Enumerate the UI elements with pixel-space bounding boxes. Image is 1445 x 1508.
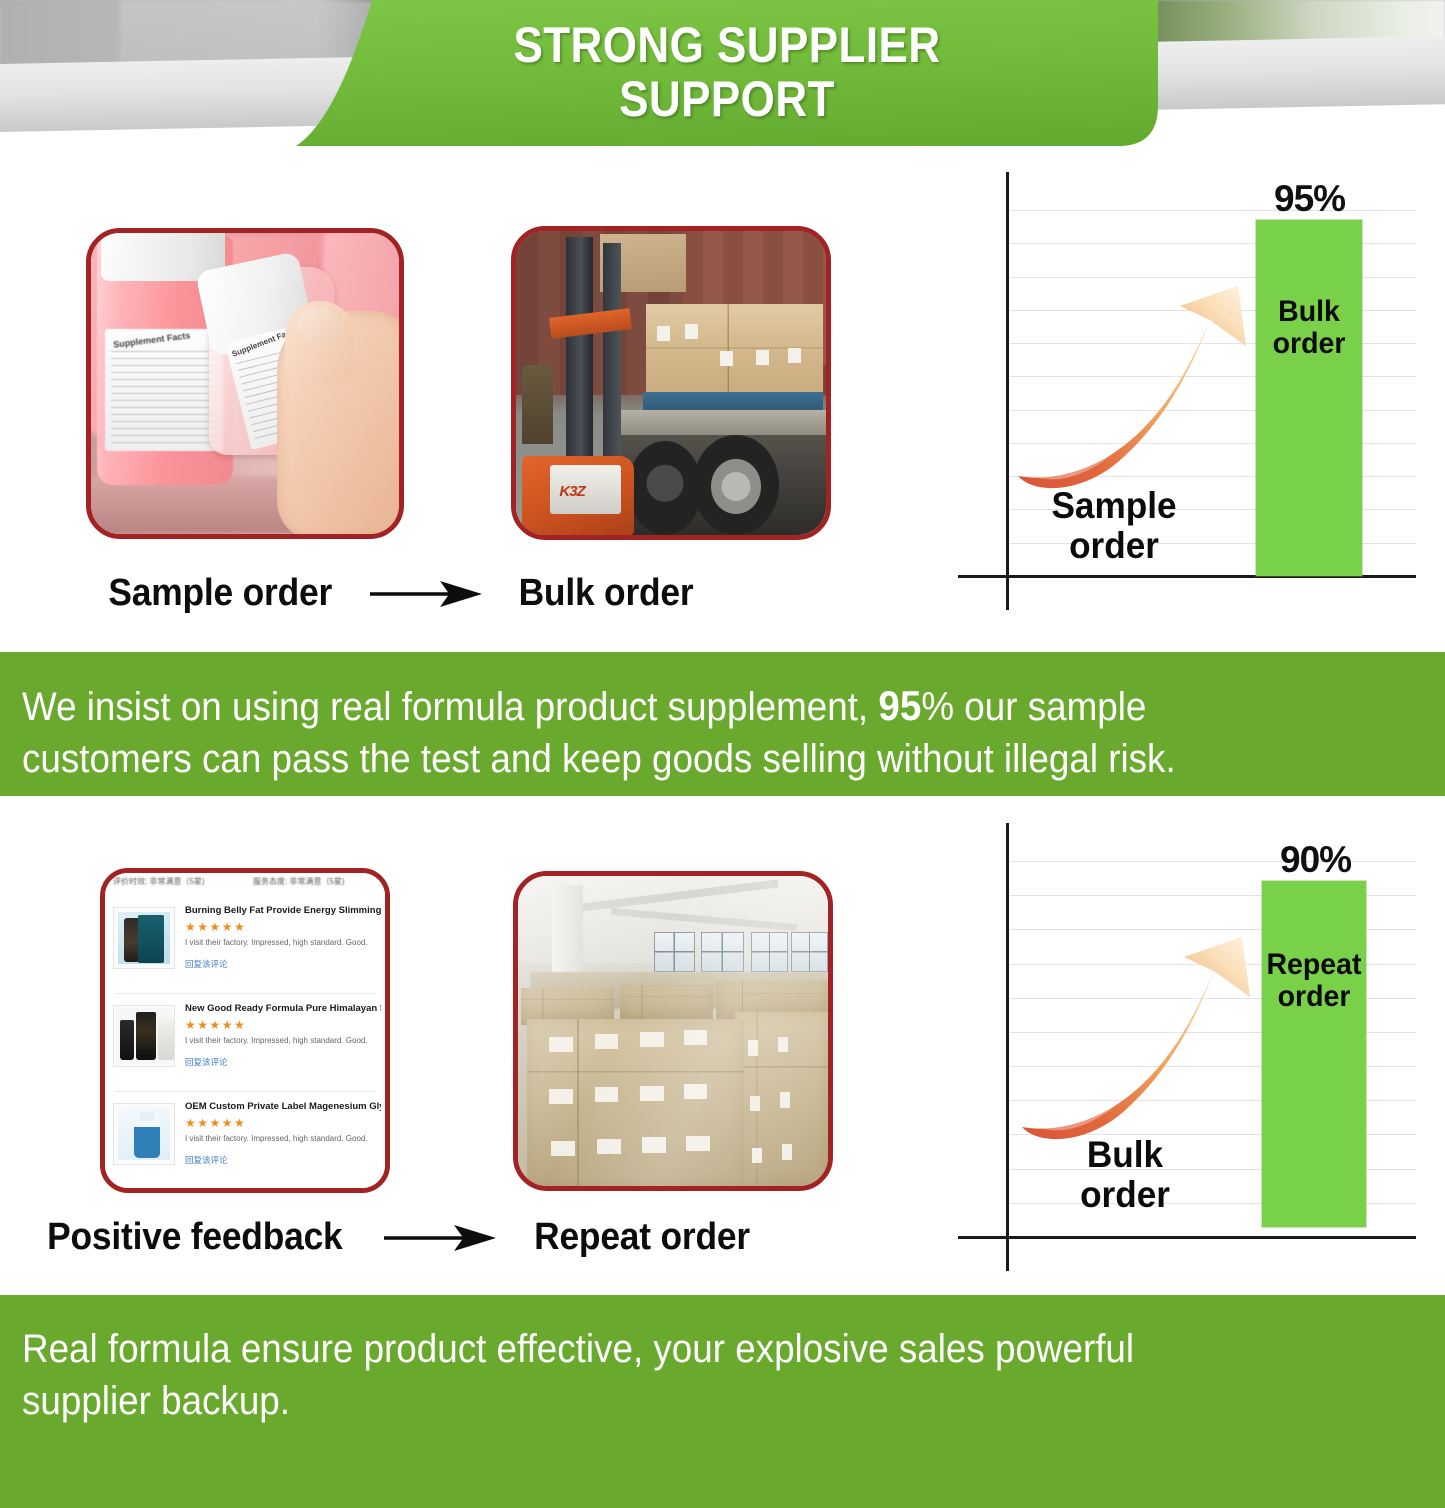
growth-arrow-icon <box>1014 280 1294 502</box>
statement-text-before: We insist on using real formula product … <box>22 685 878 729</box>
review-title[interactable]: Burning Belly Fat Provide Energy Slimmin… <box>185 905 381 916</box>
bottles-photo-art: Supplement Facts Supplement Facts <box>91 233 399 534</box>
forklift-mast-secondary <box>603 243 622 480</box>
magnesium-bottle-thumbnail <box>118 1108 170 1160</box>
chart-value-label: 90% <box>1280 839 1351 881</box>
feedback-panel-header: 评价时效: 非常满意（5星) 服务态度: 非常满意（5星) <box>105 873 385 893</box>
review-comment: I visit their factory. Impressed, high s… <box>185 1134 383 1143</box>
feedback-header-right: 服务态度: 非常满意（5星) <box>253 876 345 887</box>
statement-text: Real formula ensure product effective, y… <box>22 1323 1307 1427</box>
photo-bulk-order-forklift: K3Z <box>511 226 831 540</box>
review-title[interactable]: New Good Ready Formula Pure Himalayan Sh… <box>185 1003 381 1014</box>
caption-sample-order: Sample order <box>108 572 332 615</box>
header-banner: STRONG SUPPLIER SUPPORT <box>296 0 1158 146</box>
keto-drops-bottle-thumbnail <box>118 912 170 964</box>
photo-warehouse-pallets <box>513 871 833 1191</box>
statement-band-sample: We insist on using real formula product … <box>0 652 1445 796</box>
review-comment: I visit their factory. Impressed, high s… <box>185 938 383 947</box>
review-product-thumbnail[interactable] <box>113 907 175 969</box>
label-text-lines <box>111 351 217 447</box>
wheel-rim <box>711 459 761 514</box>
statement-text: We insist on using real formula product … <box>22 680 1307 785</box>
caption-row-feedback-repeat: Positive feedback Repeat order <box>36 1216 758 1259</box>
feedback-list: 评价时效: 非常满意（5星) 服务态度: 非常满意（5星) Burning Be… <box>105 873 385 1188</box>
chart-sample-to-bulk: Bulk order 95% Sample order <box>958 172 1416 610</box>
rating-stars-icon: ★★★★★ <box>185 1117 246 1129</box>
list-item[interactable]: New Good Ready Formula Pure Himalayan Sh… <box>105 997 385 1092</box>
chart-baseline-label: Sample order <box>1021 486 1207 566</box>
carton-stack <box>646 304 823 395</box>
shilajit-bottles-thumbnail <box>116 1008 172 1064</box>
chart-x-axis <box>958 1236 1416 1239</box>
thumbnail-nail <box>297 307 341 345</box>
truck-bed <box>621 410 826 437</box>
photo-sample-order-bottles: Supplement Facts Supplement Facts <box>86 228 404 539</box>
page-title: STRONG SUPPLIER SUPPORT <box>348 18 1107 126</box>
truck-tire-front <box>628 441 702 535</box>
caption-positive-feedback: Positive feedback <box>47 1216 342 1259</box>
forklift-photo-art: K3Z <box>516 231 826 535</box>
list-item[interactable]: Burning Belly Fat Provide Energy Slimmin… <box>105 899 385 994</box>
feedback-header-left: 评价时效: 非常满意（5星) <box>113 876 205 887</box>
reply-link[interactable]: 回复该评论 <box>185 958 228 970</box>
review-title[interactable]: OEM Custom Private Label Magenesium Glyc… <box>185 1101 381 1112</box>
chart-bar-label: Bulk order <box>1259 296 1360 360</box>
forklift-brand-mark: K3Z <box>559 483 584 500</box>
review-comment: I visit their factory. Impressed, high s… <box>185 1036 383 1045</box>
forklift-mast <box>566 237 594 486</box>
reply-link[interactable]: 回复该评论 <box>185 1154 228 1166</box>
arrow-right-icon <box>384 1221 496 1255</box>
statement-band-repeat: Real formula ensure product effective, y… <box>0 1295 1445 1508</box>
chart-bar-label: Repeat order <box>1265 949 1364 1013</box>
chart-baseline-label: Bulk order <box>1035 1135 1216 1215</box>
warehouse-photo-art <box>518 876 828 1186</box>
growth-arrow-icon <box>1018 931 1298 1153</box>
chart-bulk-to-repeat: Repeat order 90% Bulk order <box>958 823 1416 1271</box>
caption-bulk-order: Bulk order <box>519 572 694 615</box>
chart-value-label: 95% <box>1274 178 1345 220</box>
arrow-right-icon <box>370 577 482 611</box>
shrink-wrap-highlight <box>518 876 828 1186</box>
supplement-facts-label: Supplement Facts <box>105 329 223 451</box>
chart-y-axis <box>1006 823 1009 1271</box>
divider <box>115 993 375 994</box>
rating-stars-icon: ★★★★★ <box>185 1019 246 1031</box>
chart-y-axis <box>1006 172 1009 610</box>
chart-bar-repeat-order: Repeat order <box>1262 881 1366 1227</box>
page-header: STRONG SUPPLIER SUPPORT <box>0 0 1445 146</box>
list-item[interactable]: OEM Custom Private Label Magenesium Glyc… <box>105 1095 385 1190</box>
gridline <box>1010 210 1416 211</box>
caption-repeat-order: Repeat order <box>534 1216 750 1259</box>
photo-positive-feedback-screenshot: 评价时效: 非常满意（5星) 服务态度: 非常满意（5星) Burning Be… <box>100 868 390 1193</box>
review-product-thumbnail[interactable] <box>113 1103 175 1165</box>
chart-bar-bulk-order: Bulk order <box>1256 220 1362 576</box>
forklift-driver <box>522 365 553 444</box>
gridline <box>1010 861 1416 862</box>
caption-row-sample-bulk: Sample order Bulk order <box>100 572 701 615</box>
rating-stars-icon: ★★★★★ <box>185 921 246 933</box>
statement-highlight: 95 <box>878 682 921 729</box>
review-product-thumbnail[interactable] <box>113 1005 175 1067</box>
reply-link[interactable]: 回复该评论 <box>185 1056 228 1068</box>
divider <box>115 1091 375 1092</box>
